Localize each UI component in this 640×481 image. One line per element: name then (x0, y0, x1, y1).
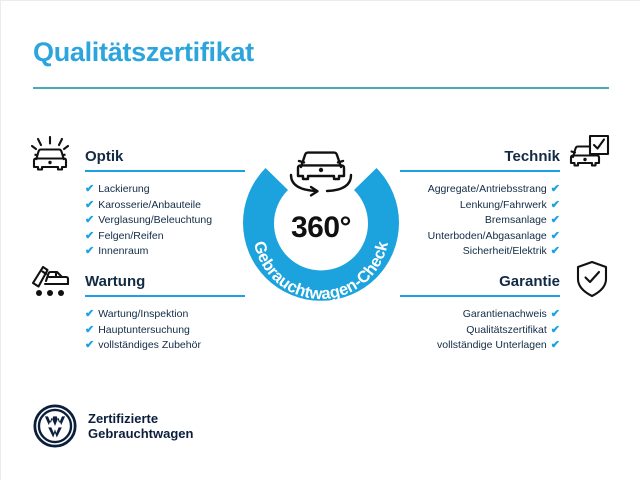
list-item: Unterboden/Abgasanlage ✔ (400, 229, 560, 245)
wrench-car-icon (27, 260, 73, 300)
check-icon: ✔ (551, 200, 560, 211)
section-wartung-header: Wartung (85, 272, 245, 298)
list-item: ✔ Hauptuntersuchung (85, 323, 245, 339)
footer-line-2: Gebrauchtwagen (88, 426, 193, 442)
list-item: ✔ vollständiges Zubehör (85, 338, 245, 354)
list-item-label: Innenraum (98, 244, 148, 260)
check-icon: ✔ (85, 309, 94, 320)
page-title: Qualitätszertifikat (33, 37, 254, 68)
list-item: Sicherheit/Elektrik ✔ (400, 244, 560, 260)
badge-center-label: 360° (223, 211, 419, 245)
list-item: Lenkung/Fahrwerk ✔ (400, 198, 560, 214)
list-item-label: Hauptuntersuchung (98, 323, 190, 339)
title-divider (33, 87, 609, 89)
section-optik-title: Optik (85, 147, 245, 167)
list-item-label: Lackierung (98, 182, 149, 198)
list-item-label: Bremsanlage (485, 213, 547, 229)
check-icon: ✔ (551, 231, 560, 242)
section-technik-header: Technik (400, 147, 560, 173)
section-wartung-title: Wartung (85, 272, 245, 292)
check-icon: ✔ (551, 184, 560, 195)
section-wartung: Wartung ✔ Wartung/Inspektion ✔ Hauptunte… (85, 272, 245, 354)
shield-check-icon (569, 259, 615, 299)
check-icon: ✔ (85, 340, 94, 351)
section-optik-items: ✔ Lackierung ✔ Karosserie/Anbauteile ✔ V… (85, 182, 245, 260)
vw-logo-icon (33, 404, 77, 448)
section-technik-items: Aggregate/Antriebsstrang ✔ Lenkung/Fahrw… (400, 182, 560, 260)
check-icon: ✔ (85, 215, 94, 226)
list-item-label: Garantienachweis (463, 307, 547, 323)
list-item: ✔ Verglasung/Beleuchtung (85, 213, 245, 229)
check-icon: ✔ (551, 246, 560, 257)
list-item-label: Aggregate/Antriebsstrang (428, 182, 547, 198)
section-optik-divider (85, 170, 245, 172)
list-item-label: Karosserie/Anbauteile (98, 198, 201, 214)
list-item: Aggregate/Antriebsstrang ✔ (400, 182, 560, 198)
section-garantie: Garantie Garantienachweis ✔ Qualitätszer… (400, 272, 560, 354)
list-item-label: Lenkung/Fahrwerk (460, 198, 547, 214)
section-technik-divider (400, 170, 560, 172)
check-icon: ✔ (85, 231, 94, 242)
badge-360-gebrauchtwagen-check: Gebrauchtwagen-Check 360° (223, 125, 419, 321)
section-technik: Technik Aggregate/Antriebsstrang ✔ Lenku… (400, 147, 560, 260)
section-garantie-items: Garantienachweis ✔ Qualitätszertifikat ✔… (400, 307, 560, 354)
list-item-label: Verglasung/Beleuchtung (98, 213, 212, 229)
certificate-page: Qualitätszertifikat Optik (1, 1, 640, 481)
check-icon: ✔ (85, 246, 94, 257)
list-item: ✔ Wartung/Inspektion (85, 307, 245, 323)
footer-line-1: Zertifizierte (88, 411, 193, 427)
footer-brand-text: Zertifizierte Gebrauchtwagen (88, 411, 193, 442)
list-item-label: vollständige Unterlagen (437, 338, 547, 354)
footer-brand: Zertifizierte Gebrauchtwagen (33, 404, 193, 448)
list-item: Qualitätszertifikat ✔ (400, 323, 560, 339)
car-shine-icon (27, 135, 73, 175)
section-technik-title: Technik (400, 147, 560, 167)
section-optik: Optik ✔ Lackierung ✔ Karosserie/Anbautei… (85, 147, 245, 260)
car-checkbox-icon (565, 133, 611, 173)
section-wartung-items: ✔ Wartung/Inspektion ✔ Hauptuntersuchung… (85, 307, 245, 354)
list-item-label: Qualitätszertifikat (466, 323, 547, 339)
section-garantie-header: Garantie (400, 272, 560, 298)
check-icon: ✔ (85, 200, 94, 211)
list-item-label: vollständiges Zubehör (98, 338, 201, 354)
section-garantie-title: Garantie (400, 272, 560, 292)
list-item: ✔ Karosserie/Anbauteile (85, 198, 245, 214)
list-item-label: Unterboden/Abgasanlage (428, 229, 547, 245)
check-icon: ✔ (551, 215, 560, 226)
list-item-label: Wartung/Inspektion (98, 307, 188, 323)
check-icon: ✔ (85, 325, 94, 336)
section-optik-header: Optik (85, 147, 245, 173)
check-icon: ✔ (551, 340, 560, 351)
list-item-label: Felgen/Reifen (98, 229, 163, 245)
section-garantie-divider (400, 295, 560, 297)
list-item: Garantienachweis ✔ (400, 307, 560, 323)
list-item: Bremsanlage ✔ (400, 213, 560, 229)
list-item: ✔ Innenraum (85, 244, 245, 260)
check-icon: ✔ (551, 309, 560, 320)
section-wartung-divider (85, 295, 245, 297)
list-item-label: Sicherheit/Elektrik (463, 244, 547, 260)
check-icon: ✔ (85, 184, 94, 195)
list-item: ✔ Felgen/Reifen (85, 229, 245, 245)
list-item: vollständige Unterlagen ✔ (400, 338, 560, 354)
list-item: ✔ Lackierung (85, 182, 245, 198)
check-icon: ✔ (551, 325, 560, 336)
